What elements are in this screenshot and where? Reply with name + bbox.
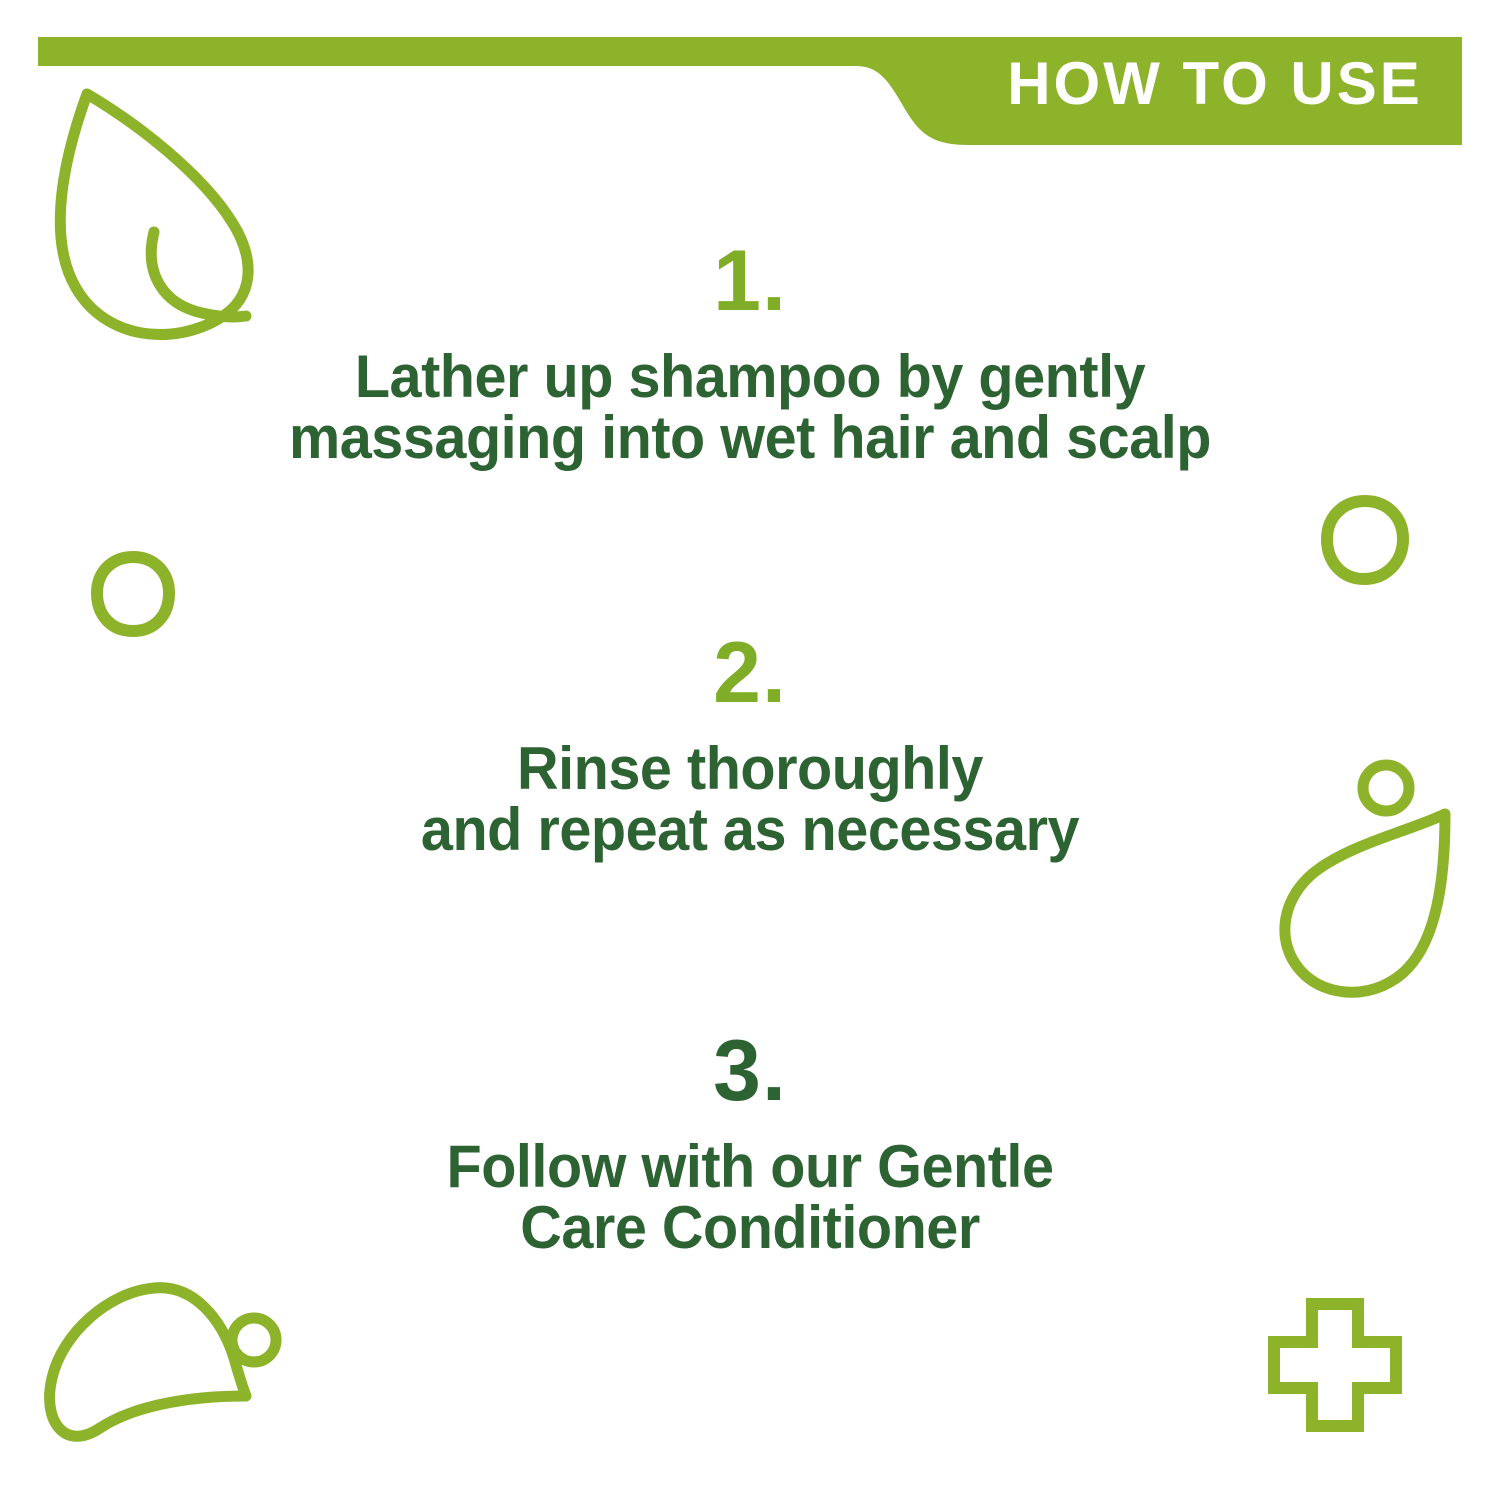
step-text-1: Lather up shampoo by gently massaging in… (30, 346, 1470, 468)
step-text-line: Rinse thoroughly (30, 738, 1470, 799)
circle-icon (88, 548, 178, 640)
how-to-use-infographic: HOW TO USE 1. Lather up shampoo by gentl… (0, 0, 1500, 1500)
plus-icon (1262, 1296, 1402, 1436)
circle-icon (1318, 492, 1412, 588)
step-item-1: 1. Lather up shampoo by gently massaging… (0, 238, 1500, 468)
page-title: HOW TO USE (980, 54, 1450, 114)
header-banner: HOW TO USE (0, 0, 1500, 170)
step-text-line: Follow with our Gentle (30, 1136, 1470, 1197)
step-number-3: 3. (0, 1028, 1500, 1114)
step-text-2: Rinse thoroughly and repeat as necessary (30, 738, 1470, 860)
step-number-2: 2. (0, 630, 1500, 716)
step-item-2: 2. Rinse thoroughly and repeat as necess… (0, 630, 1500, 860)
step-text-3: Follow with our Gentle Care Conditioner (30, 1136, 1470, 1258)
step-number-1: 1. (0, 238, 1500, 324)
step-text-line: Lather up shampoo by gently (30, 346, 1470, 407)
water-drop-icon (38, 1268, 306, 1478)
step-text-line: Care Conditioner (30, 1197, 1470, 1258)
step-text-line: and repeat as necessary (30, 799, 1470, 860)
step-text-line: massaging into wet hair and scalp (30, 407, 1470, 468)
step-item-3: 3. Follow with our Gentle Care Condition… (0, 1028, 1500, 1258)
